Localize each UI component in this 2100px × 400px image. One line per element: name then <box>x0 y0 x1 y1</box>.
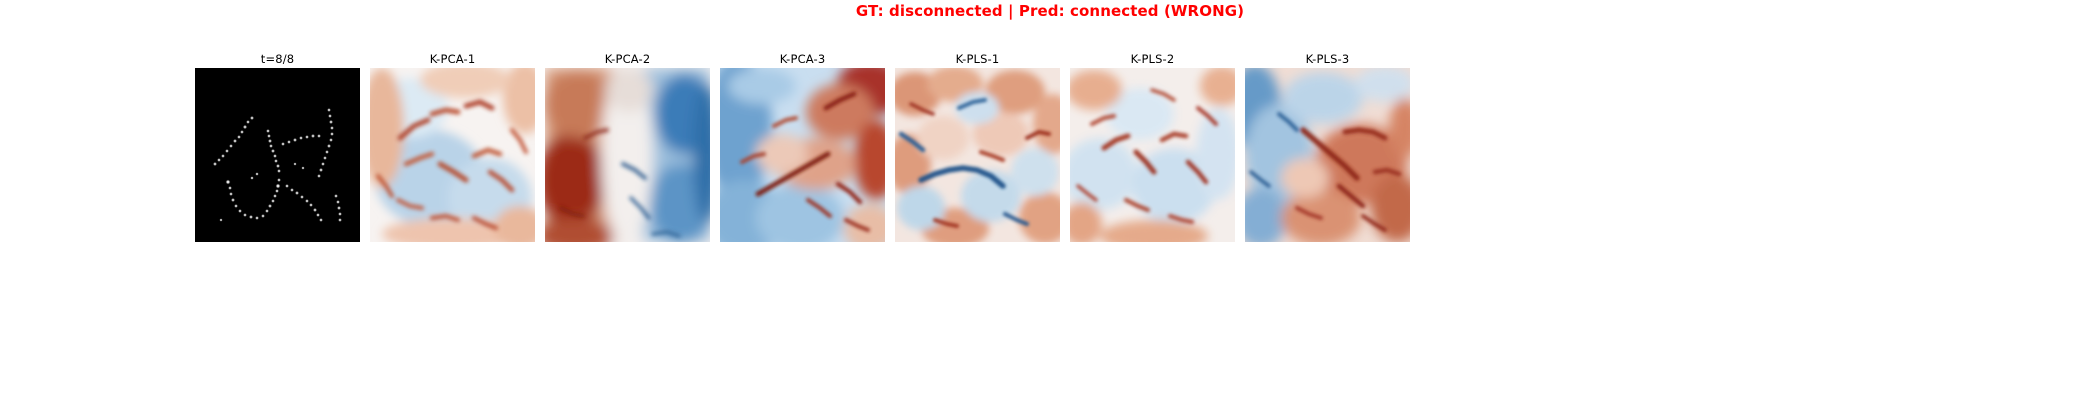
heatmap-image-kpca-1[interactable] <box>370 68 535 242</box>
heatmap-svg <box>370 68 535 242</box>
heatmap-image-kpca-2[interactable] <box>545 68 710 242</box>
panel-kpls-2[interactable]: K-PLS-2 <box>1070 52 1235 242</box>
panel-frame[interactable]: t=8/8 <box>195 52 360 242</box>
panel-title: K-PLS-1 <box>956 52 1000 67</box>
panel-kpls-1[interactable]: K-PLS-1 <box>895 52 1060 242</box>
heatmap-svg <box>1245 68 1410 242</box>
panel-title: K-PCA-2 <box>605 52 651 67</box>
panel-row: t=8/8 <box>195 52 1420 242</box>
figure-suptitle: GT: disconnected | Pred: connected (WRON… <box>0 2 2100 20</box>
panel-kpls-3[interactable]: K-PLS-3 <box>1245 52 1410 242</box>
heatmap-image-kpls-1[interactable] <box>895 68 1060 242</box>
heatmap-image-kpls-2[interactable] <box>1070 68 1235 242</box>
heatmap-svg <box>720 68 885 242</box>
heatmap-svg <box>895 68 1060 242</box>
figure-canvas: GT: disconnected | Pred: connected (WRON… <box>0 0 2100 400</box>
panel-title: K-PCA-3 <box>780 52 826 67</box>
heatmap-image-kpls-3[interactable] <box>1245 68 1410 242</box>
trajectory-svg <box>195 68 360 242</box>
heatmap-image-kpca-3[interactable] <box>720 68 885 242</box>
panel-title: K-PLS-3 <box>1306 52 1350 67</box>
panel-title: K-PLS-2 <box>1131 52 1175 67</box>
heatmap-svg <box>1070 68 1235 242</box>
panel-title: t=8/8 <box>261 52 294 67</box>
panel-kpca-1[interactable]: K-PCA-1 <box>370 52 535 242</box>
panel-kpca-3[interactable]: K-PCA-3 <box>720 52 885 242</box>
panel-title: K-PCA-1 <box>430 52 476 67</box>
panel-kpca-2[interactable]: K-PCA-2 <box>545 52 710 242</box>
heatmap-svg <box>545 68 710 242</box>
trajectory-image[interactable] <box>195 68 360 242</box>
